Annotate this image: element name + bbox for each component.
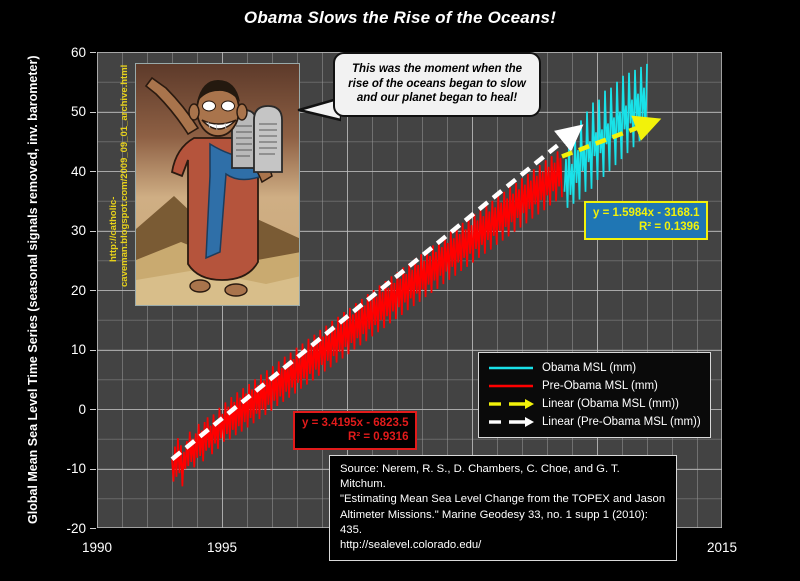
obama-equation: y = 1.5984x - 3168.1 xyxy=(593,206,699,220)
y-tick-label: 0 xyxy=(40,402,86,417)
pre-obama-equation-box: y = 3.4195x - 6823.5 R² = 0.9316 xyxy=(293,411,417,450)
image-credit-url-line2: caveman.blogspot.com/2009_09_01_archive.… xyxy=(119,65,130,287)
y-tick-label: 20 xyxy=(40,283,86,298)
pre-obama-r2: R² = 0.9316 xyxy=(302,430,408,444)
y-axis-title: Global Mean Sea Level Time Series (seaso… xyxy=(26,56,40,524)
legend-label: Pre-Obama MSL (mm) xyxy=(542,380,658,392)
source-line-4: http://sealevel.colorado.edu/ xyxy=(340,538,667,553)
legend-label: Linear (Obama MSL (mm)) xyxy=(542,398,679,410)
callout-line-1: This was the moment when the xyxy=(344,62,530,77)
legend-key-pre-obama-trend xyxy=(487,415,535,429)
y-tick-label: -20 xyxy=(40,521,86,536)
legend-item: Pre-Obama MSL (mm) xyxy=(487,377,701,395)
legend-label: Linear (Pre-Obama MSL (mm)) xyxy=(542,416,701,428)
y-tick-label: -10 xyxy=(40,461,86,476)
chart-legend: Obama MSL (mm) Pre-Obama MSL (mm) Linear… xyxy=(478,352,711,438)
legend-label: Obama MSL (mm) xyxy=(542,362,636,374)
callout-line-3: and our planet began to heal! xyxy=(344,91,530,106)
chart-root: Obama Slows the Rise of the Oceans! Glob… xyxy=(0,0,800,581)
y-tick-label: 30 xyxy=(40,223,86,238)
y-tick-label: 10 xyxy=(40,342,86,357)
legend-item: Linear (Pre-Obama MSL (mm)) xyxy=(487,413,701,431)
obama-moses-cartoon-image xyxy=(135,63,300,306)
source-citation-box: Source: Nerem, R. S., D. Chambers, C. Ch… xyxy=(329,455,677,561)
legend-key-obama-trend xyxy=(487,397,535,411)
y-tick-label: 60 xyxy=(40,45,86,60)
source-line-2: "Estimating Mean Sea Level Change from t… xyxy=(340,492,667,507)
legend-key-pre-obama-line xyxy=(487,379,535,393)
legend-item: Obama MSL (mm) xyxy=(487,359,701,377)
source-line-1: Source: Nerem, R. S., D. Chambers, C. Ch… xyxy=(340,462,667,492)
y-tick-label: 50 xyxy=(40,104,86,119)
callout-bubble: This was the moment when the rise of the… xyxy=(333,52,541,117)
legend-item: Linear (Obama MSL (mm)) xyxy=(487,395,701,413)
page-title: Obama Slows the Rise of the Oceans! xyxy=(0,8,800,28)
image-credit-url-line1: http://catholic- xyxy=(108,197,119,262)
cartoon-svg xyxy=(136,64,300,306)
series-obama xyxy=(565,64,648,208)
legend-key-obama-line xyxy=(487,361,535,375)
x-tick-label: 2015 xyxy=(692,540,752,555)
source-line-3: Altimeter Missions." Marine Geodesy 33, … xyxy=(340,508,667,538)
obama-equation-box: y = 1.5984x - 3168.1 R² = 0.1396 xyxy=(584,201,708,240)
x-tick-label: 1995 xyxy=(192,540,252,555)
pre-obama-equation: y = 3.4195x - 6823.5 xyxy=(302,416,408,430)
obama-r2: R² = 0.1396 xyxy=(593,220,699,234)
x-tick-label: 1990 xyxy=(67,540,127,555)
callout-line-2: rise of the oceans began to slow xyxy=(344,77,530,92)
y-tick-label: 40 xyxy=(40,164,86,179)
